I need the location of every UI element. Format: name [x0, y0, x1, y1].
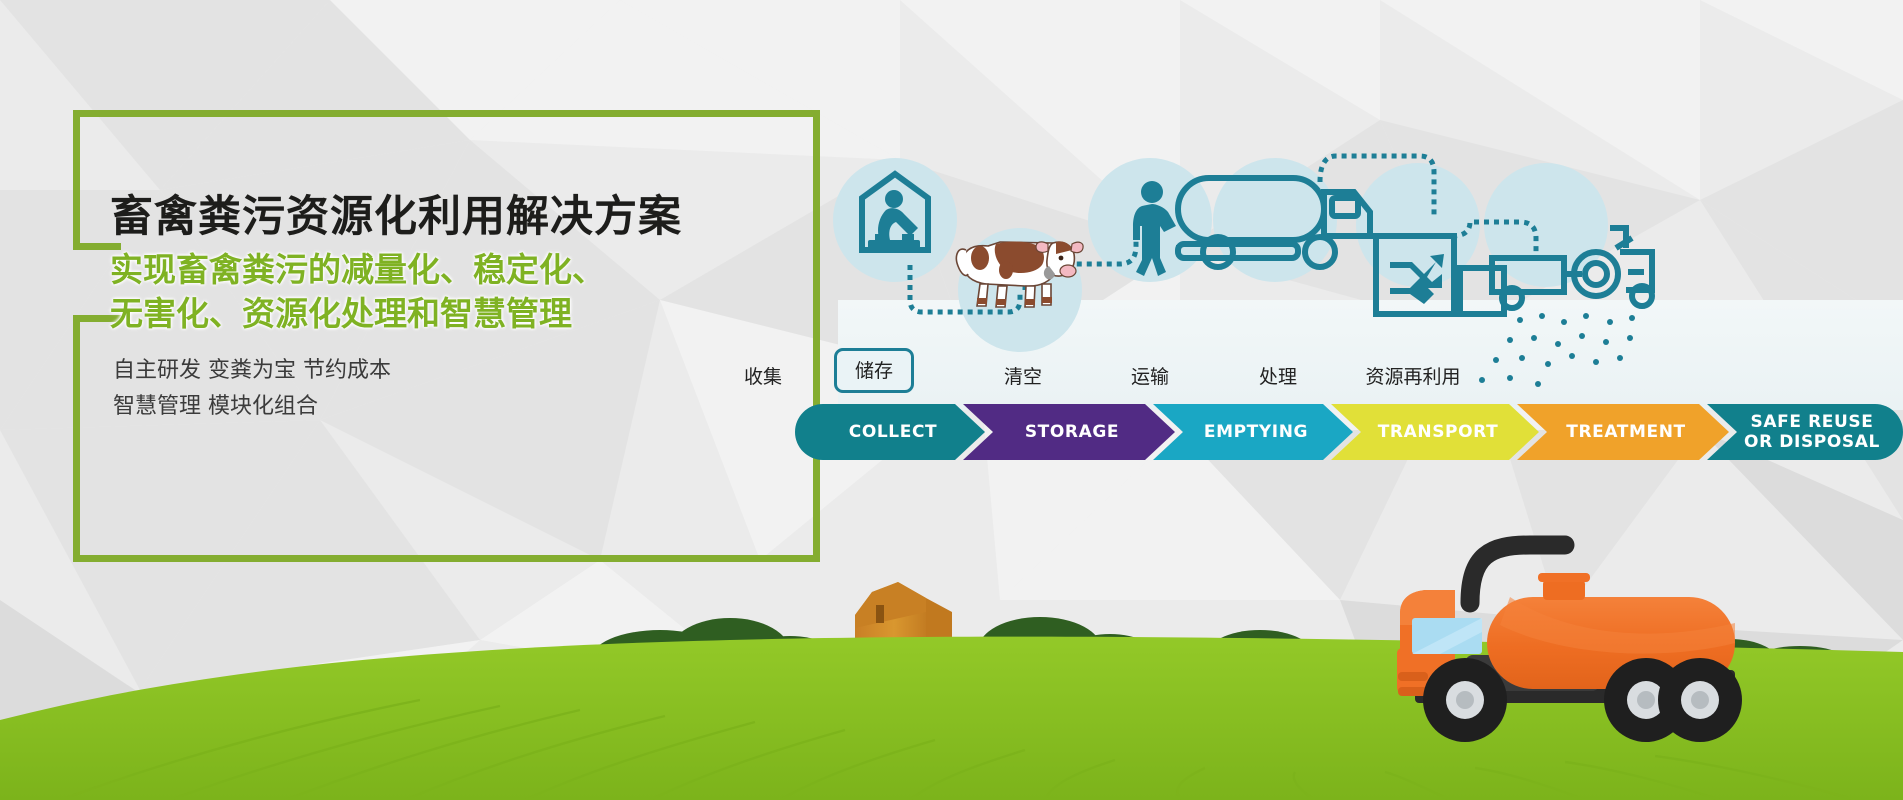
chevron-label-storage: STORAGE [1019, 423, 1119, 442]
subtitle-line-1: 实现畜禽粪污的减量化、稳定化、 [110, 248, 605, 292]
keypoints-block: 自主研发 变粪为宝 节约成本 智慧管理 模块化组合 [113, 353, 391, 425]
cn-label-transport: 运输 [1110, 362, 1190, 389]
chevron-label-treatment: TREATMENT [1560, 423, 1686, 442]
subtitle-line-2: 无害化、资源化处理和智慧管理 [110, 292, 605, 336]
page-title: 畜禽粪污资源化利用解决方案 [110, 182, 682, 244]
cn-label-emptying: 清空 [983, 362, 1063, 389]
process-chevron-bar: COLLECT STORAGE EMPTYING TRANSPORT TREAT… [795, 404, 1903, 460]
subtitle-block: 实现畜禽粪污的减量化、稳定化、 无害化、资源化处理和智慧管理 [110, 248, 605, 336]
cn-label-reuse: 资源再利用 [1348, 362, 1478, 389]
chevron-step-storage[interactable]: STORAGE [963, 404, 1175, 460]
cn-label-treatment: 处理 [1238, 362, 1318, 389]
chevron-step-collect[interactable]: COLLECT [795, 404, 985, 460]
banner-root: 畜禽粪污资源化利用解决方案 实现畜禽粪污的减量化、稳定化、 无害化、资源化处理和… [0, 0, 1903, 800]
green-bracket-frame [60, 110, 820, 562]
keypoint-line-2: 智慧管理 模块化组合 [113, 389, 391, 425]
spread-dots [1479, 313, 1635, 387]
chevron-step-emptying[interactable]: EMPTYING [1153, 404, 1353, 460]
chevron-step-safe-reuse[interactable]: SAFE REUSE OR DISPOSAL [1707, 404, 1903, 460]
chevron-label-safe-reuse-line2: OR DISPOSAL [1730, 432, 1880, 452]
chevron-step-treatment[interactable]: TREATMENT [1517, 404, 1729, 460]
chevron-label-transport: TRANSPORT [1372, 423, 1499, 442]
cn-label-storage[interactable]: 储存 [834, 348, 914, 393]
chevron-label-emptying: EMPTYING [1198, 423, 1308, 442]
chevron-label-collect: COLLECT [843, 423, 937, 442]
chevron-step-transport[interactable]: TRANSPORT [1331, 404, 1539, 460]
chevron-label-safe-reuse-line1: SAFE REUSE [1737, 412, 1874, 432]
cn-label-collect: 收集 [723, 362, 803, 389]
keypoint-line-1: 自主研发 变粪为宝 节约成本 [113, 353, 391, 389]
